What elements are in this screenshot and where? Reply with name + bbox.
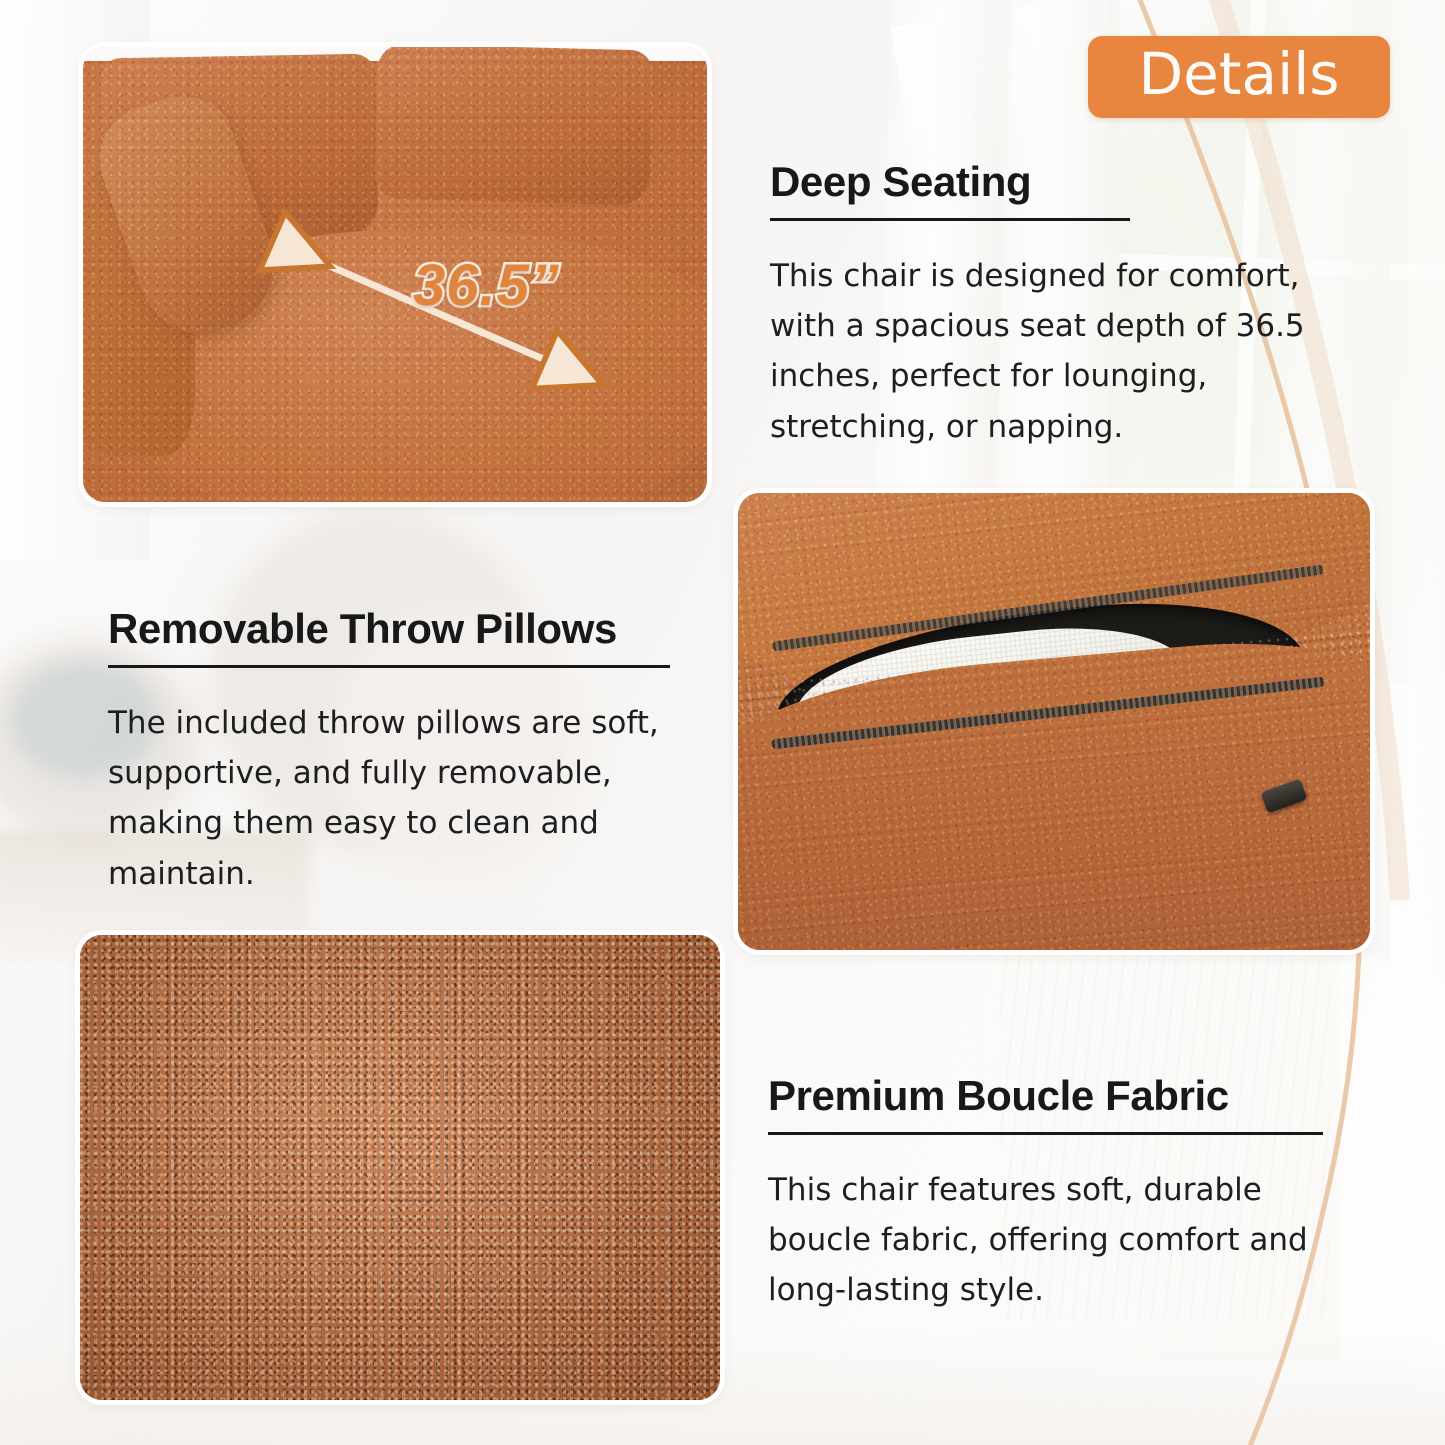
section-heading: Deep Seating: [770, 158, 1370, 206]
section-deep-seating: Deep Seating This chair is designed for …: [770, 158, 1370, 452]
section-body: This chair is designed for comfort, with…: [770, 251, 1370, 452]
dimension-label: 36.5”: [413, 252, 560, 319]
section-heading: Premium Boucle Fabric: [768, 1072, 1368, 1120]
details-page: 36.5” Details: [0, 0, 1445, 1445]
fabric-vignette: [80, 935, 720, 1400]
background-curtain: [1380, 0, 1445, 980]
section-premium-boucle-fabric: Premium Boucle Fabric This chair feature…: [768, 1072, 1368, 1316]
section-body: This chair features soft, durable boucle…: [768, 1165, 1368, 1316]
heading-underline: [108, 665, 670, 668]
photo-card-fabric-swatch: [80, 935, 720, 1400]
sofa-photo: 36.5”: [83, 47, 707, 502]
photo-card-zipper-detail: [738, 493, 1370, 950]
photo-card-deep-seating: 36.5”: [83, 47, 707, 502]
fabric-photo: [80, 935, 720, 1400]
section-heading: Removable Throw Pillows: [108, 605, 708, 653]
section-body: The included throw pillows are soft, sup…: [108, 698, 708, 899]
section-removable-throw-pillows: Removable Throw Pillows The included thr…: [108, 605, 708, 899]
details-badge-label: Details: [1138, 45, 1339, 109]
dimension-arrow-icon: [83, 47, 707, 502]
details-badge: Details: [1088, 36, 1390, 118]
heading-underline: [770, 218, 1130, 221]
zipper-photo: [738, 493, 1370, 950]
heading-underline: [768, 1132, 1323, 1135]
